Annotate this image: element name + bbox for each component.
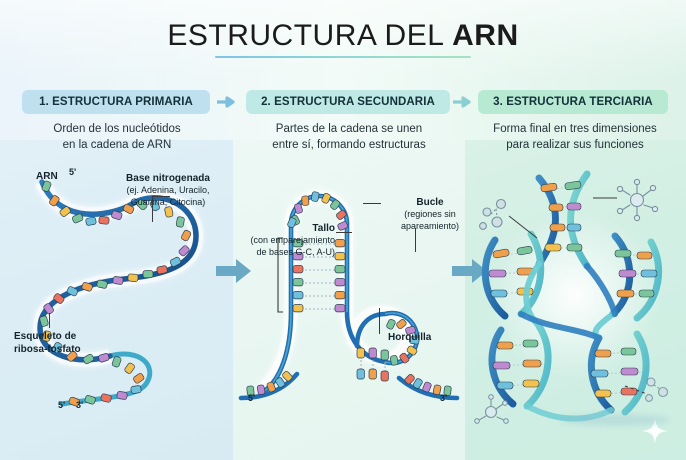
label-bucle-detail: (regiones sin apareamiento): [401, 209, 459, 231]
label-tallo-heading: Tallo: [243, 222, 335, 235]
leader-line-tallo: [336, 232, 352, 233]
label-bucle-heading: Bucle: [382, 196, 478, 209]
step-badge-secundaria[interactable]: 2. ESTRUCTURA SECUNDARIA: [246, 90, 450, 114]
infographic-canvas: ESTRUCTURA DEL ARN 1. ESTRUCTURA PRIMARI…: [0, 0, 686, 460]
prime-5-panel2: 5': [248, 393, 255, 403]
molecule-decoration-bottom-right: [646, 378, 668, 401]
step-arrow-1-icon: [216, 96, 236, 108]
prime-3-bottom-panel1: 3': [76, 400, 83, 410]
prime-3-panel2: 3': [440, 393, 447, 403]
prime-5-bottom-panel1: 5': [58, 400, 65, 410]
label-base-nitrogenada: Base nitrogenada (ej. Adenina, Uracilo, …: [108, 172, 228, 208]
label-tallo-detail: (con emparejamiento de bases G-C, A-U): [250, 235, 335, 257]
panel-2-subtitle: Partes de la cadena se unen entre sí, fo…: [240, 122, 458, 153]
title-underline: [215, 56, 471, 59]
title-text: ESTRUCTURA DEL: [167, 19, 452, 52]
leader-line-base-horizontal: [152, 196, 170, 197]
label-bucle: Bucle (regiones sin apareamiento): [382, 196, 478, 232]
molecule-decoration-top-right: [617, 179, 657, 220]
leader-line-horquilla: [379, 308, 380, 334]
label-horquilla: Horquilla: [388, 331, 431, 344]
label-arn: ARN: [36, 170, 58, 183]
ground-shadow: [560, 414, 670, 426]
step-arrow-2-icon: [452, 96, 472, 108]
leader-line-backbone: [49, 313, 50, 328]
step-badge-row: 1. ESTRUCTURA PRIMARIA 2. ESTRUCTURA SEC…: [0, 90, 686, 116]
panel-3-tertiary-structure-illustration: [465, 160, 686, 430]
panel-3-subtitle: Forma final en tres dimensiones para rea…: [468, 122, 682, 153]
prime-5-top-panel1: 5': [69, 167, 76, 177]
leader-line-bucle: [363, 203, 381, 204]
label-base-heading: Base nitrogenada: [108, 172, 228, 185]
step-badge-terciaria[interactable]: 3. ESTRUCTURA TERCIARIA: [478, 90, 668, 114]
title-emphasis: ARN: [452, 19, 519, 52]
label-tallo: Tallo (con emparejamiento de bases G-C, …: [243, 222, 335, 258]
molecule-decoration-top-left: [480, 200, 506, 230]
label-esqueleto-ribosa-fosfato: Esqueleto de ribosa-fosfato: [14, 330, 124, 356]
leader-line-bucle-vertical: [415, 228, 416, 252]
step-badge-primaria[interactable]: 1. ESTRUCTURA PRIMARIA: [22, 90, 210, 114]
leader-line-base: [152, 196, 153, 222]
panel-1-subtitle: Orden de los nucleótidos en la cadena de…: [8, 122, 226, 153]
page-title: ESTRUCTURA DEL ARN: [0, 20, 686, 58]
